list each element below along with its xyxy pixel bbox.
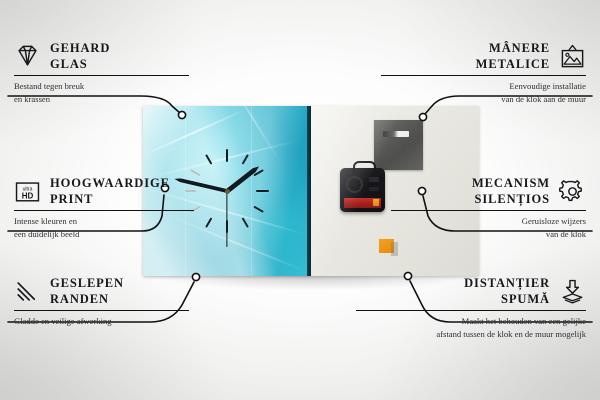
metal-grain (374, 120, 423, 170)
feature-header: GEHARD GLAS (14, 40, 189, 72)
feature-ground-edges[interactable]: GESLEPEN RANDEN Gladde en veilige afwerk… (14, 275, 189, 328)
feature-high-quality-print[interactable]: ultra HD HOOGWAARDIGE PRINT Intense kleu… (14, 175, 194, 240)
feature-subtitle: Geruisloze wijzers van de klok (391, 215, 586, 239)
diagonal-lines-icon (14, 278, 41, 305)
feature-title: MECANISM SILENȚIOS (472, 175, 550, 207)
mechanism-switch (369, 187, 379, 191)
feature-header: DISTANȚIER SPUMĂ (356, 275, 586, 307)
feature-subtitle: Intense kleuren en een duidelijk beeld (14, 215, 194, 239)
metal-hanger-part (374, 120, 423, 170)
picture-frame-hook-icon (559, 43, 586, 70)
divider (381, 75, 586, 76)
mechanism-dial (346, 176, 363, 193)
ultra-hd-icon: ultra HD (14, 178, 41, 205)
svg-text:HD: HD (22, 191, 34, 200)
foam-spacer-part (379, 239, 394, 253)
feature-title: MÂNERE METALICE (476, 40, 550, 72)
clock-mechanism-part (340, 168, 385, 212)
feature-header: ultra HD HOOGWAARDIGE PRINT (14, 175, 194, 207)
feature-subtitle: Gladde en veilige afwerking (14, 315, 189, 327)
feature-subtitle: Eenvoudige installatie van de klok aan d… (381, 80, 586, 104)
feature-title: GESLEPEN RANDEN (50, 275, 124, 307)
mechanism-switch (369, 177, 379, 182)
diamond-icon (14, 43, 41, 70)
feature-title: DISTANȚIER SPUMĂ (464, 275, 550, 307)
feature-header: MÂNERE METALICE (381, 40, 586, 72)
infographic-canvas: GEHARD GLAS Bestand tegen breuk en krass… (0, 0, 600, 400)
feature-subtitle: Maakt het behouden van een gelijke afsta… (356, 315, 586, 339)
battery-part (344, 198, 381, 208)
clock-center-cap (225, 189, 230, 194)
hanger-slot (383, 131, 409, 137)
feature-metal-handles[interactable]: MÂNERE METALICE Eenvoudige installatie v… (381, 40, 586, 105)
mechanism-hanger-loop (353, 161, 376, 173)
feature-title: GEHARD GLAS (50, 40, 110, 72)
feature-header: GESLEPEN RANDEN (14, 275, 189, 307)
divider (391, 210, 586, 211)
feature-foam-spacer[interactable]: DISTANȚIER SPUMĂ Maakt het behouden van … (356, 275, 586, 340)
divider (14, 210, 194, 211)
divider (14, 75, 189, 76)
feature-subtitle: Bestand tegen breuk en krassen (14, 80, 189, 104)
feature-title: HOOGWAARDIGE PRINT (50, 175, 170, 207)
feature-header: MECANISM SILENȚIOS (391, 175, 586, 207)
divider (356, 310, 586, 311)
press-down-layers-icon (559, 278, 586, 305)
divider (14, 310, 189, 311)
feature-silent-mechanism[interactable]: MECANISM SILENȚIOS Geruisloze wijzers va… (391, 175, 586, 240)
feature-tempered-glass[interactable]: GEHARD GLAS Bestand tegen breuk en krass… (14, 40, 189, 105)
gear-icon (559, 178, 586, 205)
